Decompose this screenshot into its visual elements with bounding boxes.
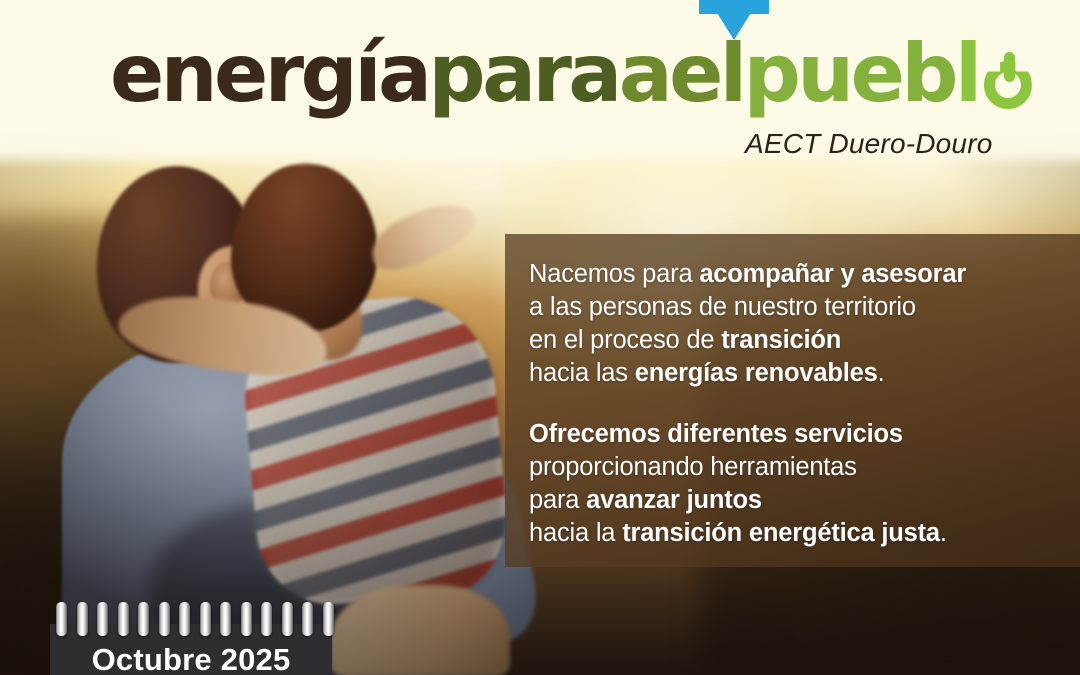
logo-wordmark: energíaparaaelpuebl xyxy=(110,34,1037,114)
calendar-ring xyxy=(159,602,170,636)
logo-tagline: AECT Duero-Douro xyxy=(745,128,993,160)
calendar-ring xyxy=(138,602,149,636)
calendar-ring xyxy=(56,602,67,636)
message-paragraph-1: Nacemos para acompañar y asesorara las p… xyxy=(529,258,1050,391)
logo-segment-pueb: pueb xyxy=(744,34,955,114)
logo-segment-l: l xyxy=(955,34,979,114)
message-panel: Nacemos para acompañar y asesorara las p… xyxy=(505,234,1080,567)
power-bar xyxy=(1004,52,1015,82)
poster-canvas: energíaparaaelpuebl AECT Duero-Douro Nac… xyxy=(0,0,1080,675)
calendar-ring xyxy=(97,602,108,636)
calendar-spiral-rings xyxy=(56,602,334,636)
calendar-month-label: Octubre 2025 xyxy=(50,644,332,675)
calendar-ring xyxy=(282,602,293,636)
calendar-ring xyxy=(220,602,231,636)
calendar-ring xyxy=(200,602,211,636)
logo-segment-ael: ael xyxy=(619,34,744,114)
calendar-ring xyxy=(261,602,272,636)
calendar-ring xyxy=(118,602,129,636)
calendar-ring xyxy=(241,602,252,636)
brand-logo[interactable]: energíaparaaelpuebl AECT Duero-Douro xyxy=(0,0,1080,168)
calendar-ring xyxy=(302,602,313,636)
message-paragraph-2: Ofrecemos diferentes serviciosproporcion… xyxy=(529,418,1050,551)
calendar-ring xyxy=(323,602,334,636)
logo-segment-para: para xyxy=(428,34,618,114)
power-button-icon xyxy=(981,53,1037,109)
logo-segment-energia: energía xyxy=(110,34,428,114)
calendar-ring xyxy=(77,602,88,636)
calendar-ring xyxy=(179,602,190,636)
